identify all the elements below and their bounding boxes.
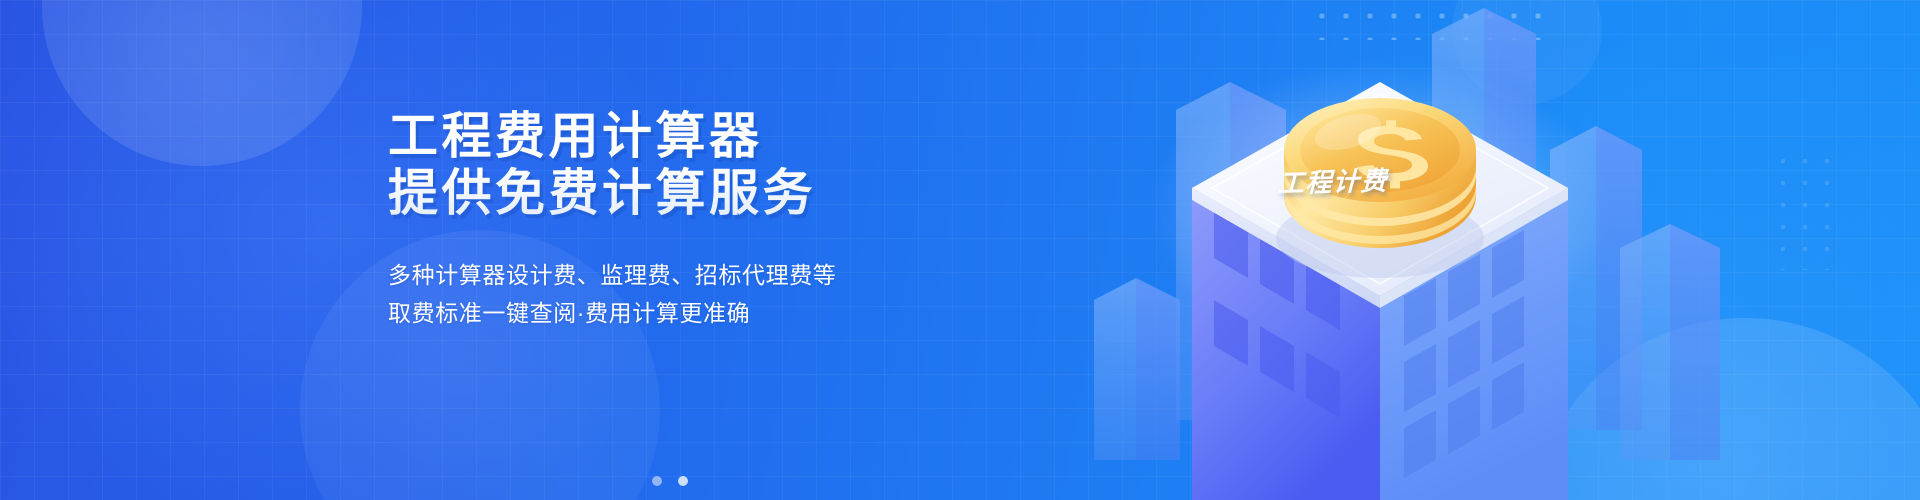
decorative-circle-top-right: [1452, 0, 1602, 104]
decorative-circle-bottom-right: [1530, 318, 1920, 500]
background-towers: [1094, 8, 1720, 460]
dot-grid-pattern-top-right: [1310, 4, 1550, 40]
illustration-badge-label: 工程计费: [1277, 161, 1388, 201]
banner-illustration: [1080, 0, 1760, 500]
headline-line-1: 工程费用计算器: [388, 108, 763, 164]
coin-shadow: [1276, 198, 1484, 278]
coin-glow: [1150, 60, 1610, 360]
banner-copy: 工程费用计算器 提供免费计算服务 多种计算器设计费、监理费、招标代理费等 取费标…: [388, 108, 1008, 332]
description-line-2: 取费标准一键查阅·费用计算更准确: [388, 294, 1008, 332]
decorative-circle-top-left: [42, 0, 362, 166]
building-windows-right: [1404, 230, 1524, 478]
main-building: [1192, 186, 1568, 500]
promo-banner: 工程费用计算器 提供免费计算服务 多种计算器设计费、监理费、招标代理费等 取费标…: [0, 0, 1920, 500]
carousel-indicators[interactable]: [652, 476, 688, 486]
banner-headline: 工程费用计算器 提供免费计算服务: [388, 108, 1008, 222]
banner-description: 多种计算器设计费、监理费、招标代理费等 取费标准一键查阅·费用计算更准确: [388, 256, 1008, 332]
description-line-1: 多种计算器设计费、监理费、招标代理费等: [388, 256, 1008, 294]
carousel-dot-1[interactable]: [652, 476, 662, 486]
dot-grid-pattern-right: [1772, 150, 1834, 270]
carousel-dot-2[interactable]: [678, 476, 688, 486]
building-windows-left: [1214, 212, 1340, 418]
headline-line-2: 提供免费计算服务: [388, 165, 1008, 222]
